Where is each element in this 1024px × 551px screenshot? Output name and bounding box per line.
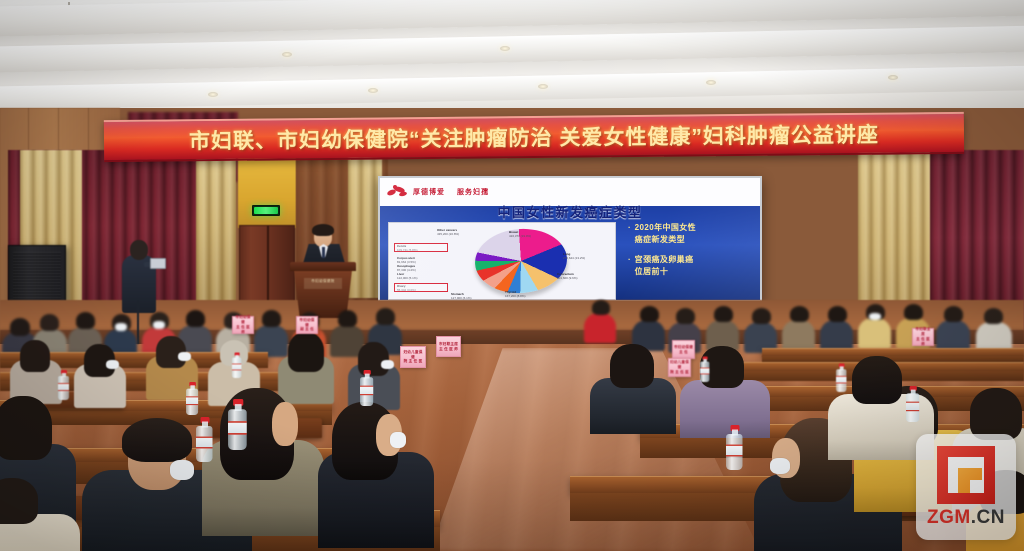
bullet-text: 宫颈癌及卵巢癌 位居前十 [635, 254, 694, 279]
bullet-marker: · [628, 254, 631, 279]
pie-label-esophagus: Oesophagus87,300 (4.2%) [397, 265, 416, 273]
ceiling-downlight [208, 92, 218, 97]
placard-line-1: 市妇幼保健 [299, 318, 314, 327]
bullet-line-2: 癌症新发类型 [635, 234, 696, 246]
event-banner: 市妇联、市妇幼保健院“关注肿瘤防治 关爱女性健康”妇科肿瘤公益讲座 [104, 112, 964, 162]
motto-right: 服务妇孺 [457, 189, 489, 196]
bullet-line-2: 位居前十 [635, 266, 694, 278]
pie-label-breast: Breast416,371 (19.9%) [509, 231, 531, 239]
name-placard: 市妇幼保健主 任 [672, 340, 695, 359]
name-placard: 妇幼儿童保健院 主 任 医 [668, 358, 691, 377]
zgm-logo-icon [937, 446, 995, 504]
name-placard: 市妇幼保健副 主 任 [296, 316, 318, 334]
hospital-motto: 厚德博爱 服务妇孺 [413, 187, 498, 197]
water-bottle [836, 364, 846, 393]
presenter-tie [322, 247, 325, 258]
pie-label-colorectum: Colorectum201,600 (9.6%) [557, 273, 578, 281]
bullet-line-1: 宫颈癌及卵巢癌 [635, 254, 694, 266]
pie-label-other: Other cancers435,200 (20.8%) [437, 229, 459, 237]
pie-label-lung: Lung276,644 (13.2%) [563, 253, 585, 261]
wall-accent-yellow [238, 158, 296, 228]
placard-line-2: 院 主 任 医 [670, 370, 689, 374]
watermark-secondary: .CN [971, 507, 1005, 528]
placard-line-2: 主 任 医 师 [236, 325, 250, 334]
water-bottle [700, 357, 709, 383]
placard-line-1: 妇幼儿童保健 [404, 350, 423, 359]
projection-screen: 厚德博爱 服务妇孺 中国女性新发癌症类型 Breast416,371 (19.9… [378, 176, 762, 302]
bullet-item: · 宫颈癌及卵巢癌 位居前十 [628, 254, 756, 279]
slide-title: 中国女性新发癌症类型 [380, 202, 760, 221]
watermark-text: ZGM.CN [927, 507, 1005, 529]
conference-hall-photo: 市妇联、市妇幼保健院“关注肿瘤防治 关爱女性健康”妇科肿瘤公益讲座 厚德博爱 服… [0, 0, 1024, 551]
motto-left: 厚德博爱 [413, 189, 445, 196]
water-bottle [360, 370, 373, 406]
name-placard: 市妇联主席主 任 医 师 [912, 328, 934, 346]
placard-line-1: 市妇幼保健 [235, 315, 250, 324]
podium-plate: 市妇幼保健院 [304, 278, 342, 289]
video-camera-icon [150, 258, 166, 269]
bullet-marker: · [628, 222, 631, 247]
ceiling-downlight [888, 75, 898, 80]
banner-title: 市妇联、市妇幼保健院“关注肿瘤防治 关爱女性健康”妇科肿瘤公益讲座 [189, 119, 879, 156]
bullet-item: · 2020年中国女性 癌症新发类型 [628, 222, 756, 247]
pie-chart-card: Breast416,371 (19.9%) Lung276,644 (13.2%… [388, 222, 616, 300]
highlight-box-cervix [394, 243, 448, 252]
ceiling-downlight [500, 46, 510, 51]
pie-label-thyroid: Thyroid167,200 (8.8%) [505, 291, 526, 299]
water-bottle [58, 370, 69, 400]
water-bottle [726, 425, 743, 470]
pie-label-liver: Liver122,000 (5.1%) [397, 273, 418, 281]
placard-line-1: 市妇联主席 [915, 327, 930, 336]
water-bottle [232, 353, 241, 379]
water-bottle [186, 382, 198, 415]
ceiling-downlight [368, 88, 378, 93]
podium-top [290, 262, 356, 271]
slide-bullets: · 2020年中国女性 癌症新发类型 · 宫颈癌及卵巢癌 位居前十 [628, 222, 756, 286]
water-bottle [228, 399, 247, 450]
name-placard: 市妇幼保健主 任 医 师 [232, 316, 254, 334]
bullet-text: 2020年中国女性 癌症新发类型 [635, 222, 696, 247]
presentation-slide: 厚德博爱 服务妇孺 中国女性新发癌症类型 Breast416,371 (19.9… [380, 178, 760, 300]
hospital-logo-icon [386, 185, 408, 199]
name-placard: 妇幼儿童保健院 主 任 医 [400, 346, 426, 368]
ceiling-downlight [282, 52, 292, 57]
water-bottle [196, 417, 213, 462]
exit-sign-icon [252, 205, 280, 216]
presenter-hair [312, 224, 334, 236]
operator-head [130, 240, 148, 260]
pie-label-corpus-uteri: Corpus uteri81,964 (3.5%) [397, 257, 416, 265]
placard-line-2: 主 任 医 师 [439, 347, 458, 351]
curtain-gold-mid [196, 152, 236, 302]
highlight-box-ovary [394, 283, 448, 292]
placard-line-1: 市妇幼保健 [674, 345, 693, 349]
placard-line-2: 主 任 医 师 [916, 337, 930, 346]
placard-line-2: 主 任 [679, 350, 688, 354]
tripod [137, 300, 139, 344]
placard-line-1: 市妇联主席 [439, 342, 458, 346]
watermark-primary: ZGM [927, 507, 971, 528]
name-placard: 市妇联主席主 任 医 师 [436, 336, 461, 357]
ceiling-downlight [706, 80, 716, 85]
watermark-logo: ZGM.CN [916, 434, 1016, 540]
placard-line-1: 妇幼儿童保健 [670, 360, 689, 369]
water-bottle [906, 386, 919, 422]
ceiling-downlight [538, 84, 548, 89]
placard-line-2: 副 主 任 [300, 327, 314, 331]
ceiling [0, 0, 1024, 122]
bullet-line-1: 2020年中国女性 [635, 222, 696, 234]
placard-line-2: 院 主 任 医 [404, 359, 423, 363]
